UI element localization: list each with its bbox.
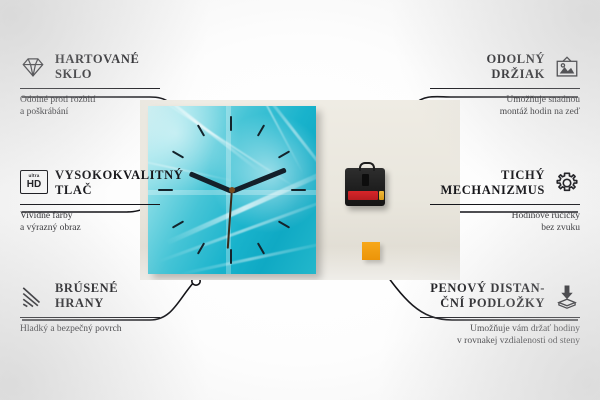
feature-divider: [430, 204, 580, 205]
clock-tick: [257, 124, 265, 136]
mechanism-shaft: [362, 174, 369, 186]
feature-divider: [20, 88, 160, 89]
clock-tick: [278, 220, 290, 228]
clock-tick: [230, 116, 232, 131]
clock-tick: [257, 242, 265, 254]
picture-hanger-icon: [554, 54, 580, 80]
mechanism-battery-tip: [379, 191, 384, 200]
feature-divider: [20, 204, 160, 205]
feature-brushed-edges: BRÚSENÉ HRANY Hladký a bezpečný povrch: [20, 281, 160, 335]
feature-title: BRÚSENÉ HRANY: [55, 281, 118, 311]
diamond-icon: [20, 54, 46, 80]
feature-foam-spacers: PENOVÝ DISTAN- ČNÍ PODLOŽKY Umožňuje vám…: [420, 281, 580, 347]
product-infographic: HARTOVANÉ SKLO Odolné proti rozbití a po…: [0, 0, 600, 400]
gear-icon: [554, 170, 580, 196]
feature-title: ODOLNÝ DRŽIAK: [487, 52, 545, 82]
clock-tick: [172, 220, 184, 228]
feature-description: Vivídne farby a výrazný obraz: [20, 210, 160, 234]
clock-tick: [278, 150, 290, 158]
feature-divider: [20, 317, 160, 318]
feature-description: Hladký a bezpečný povrch: [20, 323, 160, 335]
feature-silent-mechanism: TICHÝ MECHANIZMUS Hodinové ručičky bez z…: [430, 168, 580, 234]
feature-hardened-glass: HARTOVANÉ SKLO Odolné proti rozbití a po…: [20, 52, 160, 118]
clock-pivot: [229, 187, 235, 193]
feature-divider: [430, 88, 580, 89]
clock-mechanism: [345, 168, 385, 206]
product-photo: [140, 100, 460, 280]
feature-title: HARTOVANÉ SKLO: [55, 52, 139, 82]
foam-spacer-icon: [554, 283, 580, 309]
brushed-edges-icon: [20, 283, 46, 309]
feature-description: Umožňuje snadnou montáž hodin na zeď: [430, 94, 580, 118]
mechanism-hanger-icon: [359, 162, 375, 171]
clock-streak: [158, 192, 316, 263]
feature-description: Odolné proti rozbití a poškrábání: [20, 94, 160, 118]
clock-tick: [291, 189, 306, 191]
feature-title: PENOVÝ DISTAN- ČNÍ PODLOŽKY: [430, 281, 545, 311]
ultra-hd-icon: ultra HD: [20, 170, 46, 196]
mechanism-battery: [348, 191, 378, 200]
ultra-hd-large-text: HD: [27, 180, 41, 190]
feature-divider: [420, 317, 580, 318]
feature-title: VYSOKOKVALITNÝ TLAČ: [55, 168, 183, 198]
clock-tick: [230, 249, 232, 264]
feature-durable-hanger: ODOLNÝ DRŽIAK Umožňuje snadnou montáž ho…: [430, 52, 580, 118]
feature-title: TICHÝ MECHANIZMUS: [440, 168, 545, 198]
clock-streak: [252, 106, 316, 198]
feature-description: Hodinové ručičky bez zvuku: [430, 210, 580, 234]
feature-high-quality-print: ultra HD VYSOKOKVALITNÝ TLAČ Vivídne far…: [20, 168, 160, 234]
feature-description: Umožňuje vám držať hodiny v rovnakej vzd…: [420, 323, 580, 347]
foam-spacer-pad: [362, 242, 380, 260]
